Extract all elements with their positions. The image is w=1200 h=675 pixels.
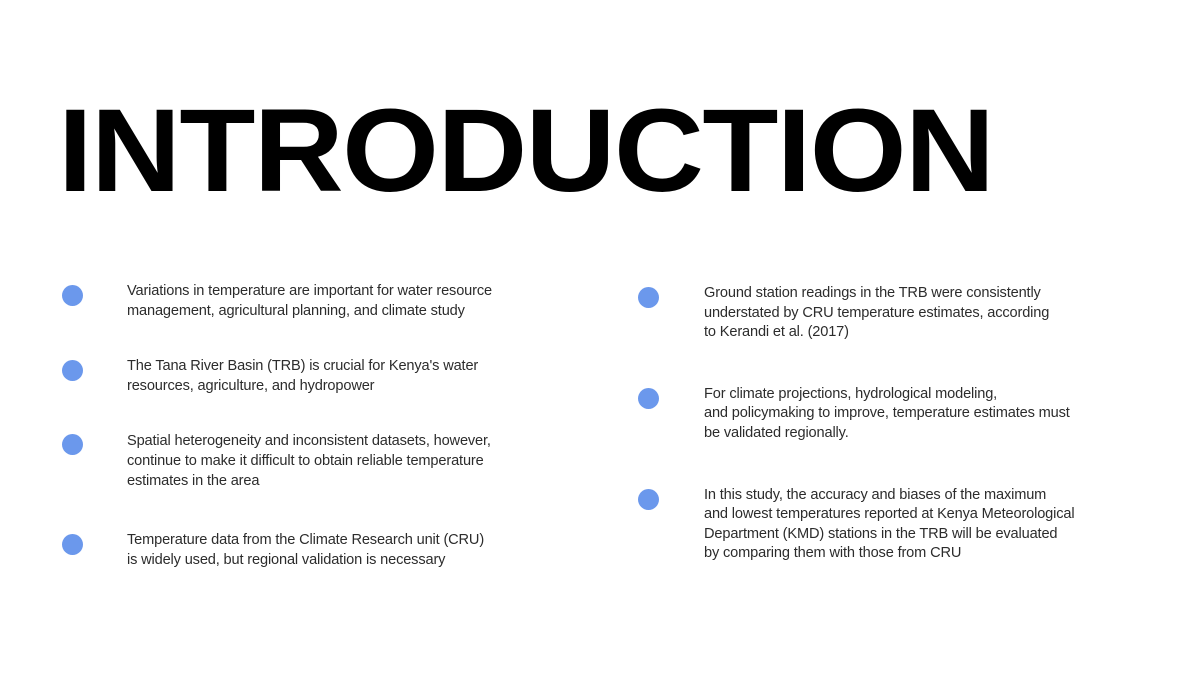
- list-item-text: For climate projections, hydrological mo…: [704, 385, 1158, 444]
- page-title: INTRODUCTION: [58, 96, 1113, 206]
- bullet-dot-icon: [62, 285, 83, 306]
- list-item-text: In this study, the accuracy and biases o…: [704, 486, 1158, 564]
- title-container: INTRODUCTION: [58, 96, 1058, 206]
- list-item: The Tana River Basin (TRB) is crucial fo…: [62, 357, 562, 396]
- list-item: In this study, the accuracy and biases o…: [638, 486, 1158, 564]
- bullet-dot-icon: [62, 434, 83, 455]
- list-item: For climate projections, hydrological mo…: [638, 385, 1158, 444]
- list-item-text: Spatial heterogeneity and inconsistent d…: [127, 432, 562, 491]
- list-item: Variations in temperature are important …: [62, 282, 562, 321]
- bullet-column-right: Ground station readings in the TRB were …: [638, 270, 1158, 564]
- list-item: Temperature data from the Climate Resear…: [62, 531, 562, 570]
- list-item: Ground station readings in the TRB were …: [638, 284, 1158, 343]
- bullet-dot-icon: [638, 489, 659, 510]
- slide-root: INTRODUCTION Variations in temperature a…: [0, 0, 1200, 675]
- bullet-dot-icon: [62, 534, 83, 555]
- content-columns: Variations in temperature are important …: [0, 270, 1200, 610]
- list-item-text: The Tana River Basin (TRB) is crucial fo…: [127, 357, 562, 396]
- bullet-dot-icon: [62, 360, 83, 381]
- bullet-column-left: Variations in temperature are important …: [62, 270, 562, 570]
- list-item-text: Ground station readings in the TRB were …: [704, 284, 1158, 343]
- list-item: Spatial heterogeneity and inconsistent d…: [62, 432, 562, 491]
- list-item-text: Temperature data from the Climate Resear…: [127, 531, 562, 570]
- bullet-dot-icon: [638, 388, 659, 409]
- list-item-text: Variations in temperature are important …: [127, 282, 562, 321]
- bullet-dot-icon: [638, 287, 659, 308]
